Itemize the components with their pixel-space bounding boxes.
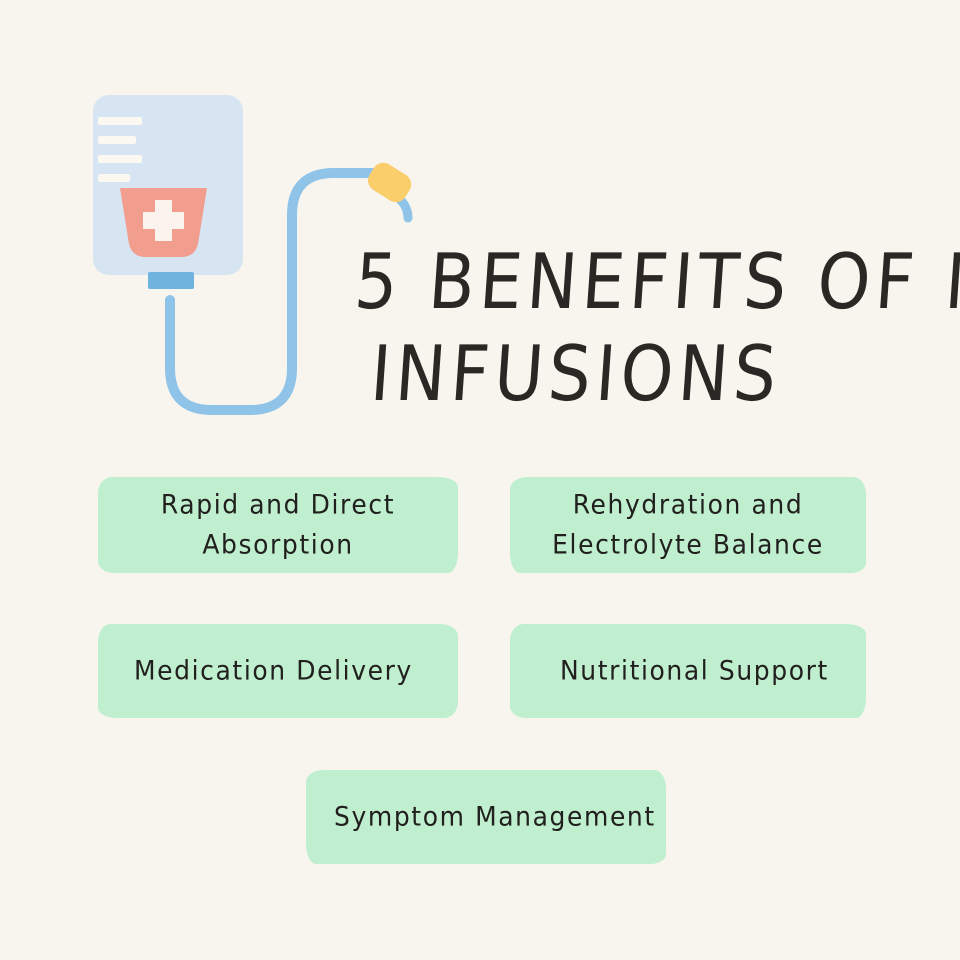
benefit-label-4: Nutritional Support — [510, 651, 866, 691]
benefit-card-3[interactable]: Medication Delivery — [98, 624, 458, 718]
benefit-label-1: Rapid and Direct Absorption — [98, 485, 458, 566]
benefit-label-1-line-1: Rapid and Direct — [161, 489, 395, 520]
benefit-card-4[interactable]: Nutritional Support — [510, 624, 866, 718]
benefit-label-2: Rehydration and Electrolyte Balance — [510, 485, 866, 566]
poster-canvas: 5 BENEFITS OF IV INFUSIONS Rapid and Dir… — [0, 0, 960, 960]
benefit-label-3: Medication Delivery — [98, 651, 458, 691]
benefit-card-5[interactable]: Symptom Management — [306, 770, 666, 864]
benefit-label-1-line-2: Absorption — [202, 529, 353, 560]
benefit-label-2-line-1: Rehydration and — [573, 489, 804, 520]
benefit-card-2[interactable]: Rehydration and Electrolyte Balance — [510, 477, 866, 573]
benefit-label-5: Symptom Management — [306, 797, 666, 837]
benefits-list: Rapid and Direct Absorption Rehydration … — [0, 0, 960, 960]
benefit-label-2-line-2: Electrolyte Balance — [552, 529, 824, 560]
benefit-card-1[interactable]: Rapid and Direct Absorption — [98, 477, 458, 573]
